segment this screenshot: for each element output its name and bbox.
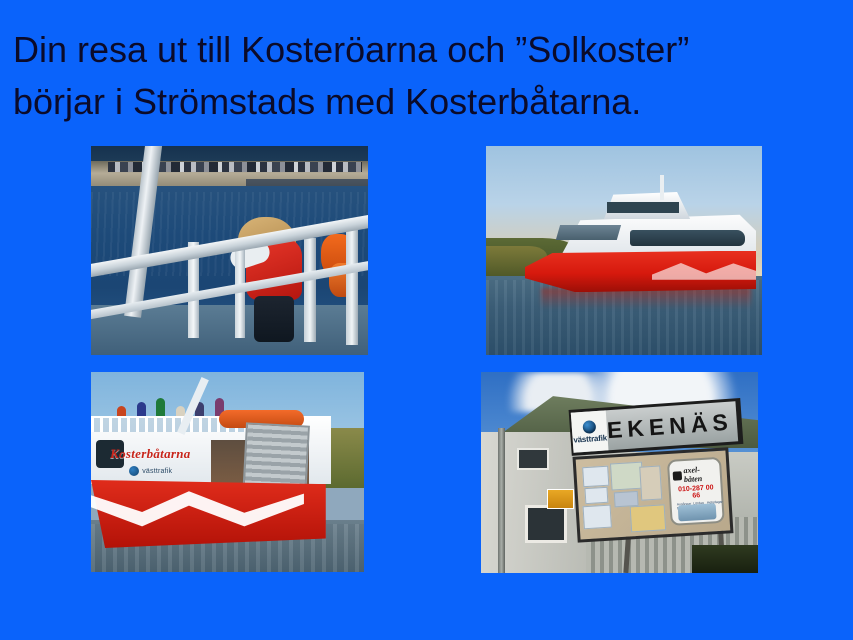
photo1-girl-trousers (254, 296, 294, 342)
photo3-vasttrafik-logo: västtrafik (129, 466, 172, 476)
photo4-sign-logo-label: västtrafik (573, 433, 607, 444)
photo-catamaran-ferry (486, 146, 762, 355)
photo4-drain-pipe (498, 428, 505, 573)
photo4-notice-paper (585, 487, 609, 505)
photo1-rail-post-3 (304, 238, 316, 343)
photo4-notice-paper (639, 466, 662, 501)
photo1-rail-post-4 (346, 230, 358, 345)
photo4-poster-name: axel-båten (683, 465, 717, 485)
photo4-upper-window (517, 448, 549, 470)
photo4-notice-paper (582, 466, 609, 487)
photo4-foreground-bush (692, 545, 758, 573)
photo3-operator-label: västtrafik (142, 468, 172, 475)
photo4-notice-paper (630, 505, 666, 533)
photo4-sign-vasttrafik-logo: västtrafik (571, 410, 609, 453)
photo-girl-on-ferry-railing (91, 146, 368, 355)
photo4-poster-phone: 010-287 00 66 (674, 485, 719, 502)
slide-title: Din resa ut till Kosteröarna och ”Solkos… (13, 24, 833, 128)
photo4-notice-board: axel-båten 010-287 00 66 Avgångar Mån–Fr… (573, 448, 734, 544)
photo-ekenas-terminal: axel-båten 010-287 00 66 Avgångar Mån–Fr… (481, 372, 758, 573)
boat-mark-icon (673, 472, 682, 482)
photo2-mast (660, 175, 664, 200)
photo4-lower-window (525, 505, 567, 543)
title-line-1: Din resa ut till Kosteröarna och ”Solkos… (13, 24, 833, 76)
photo4-yellow-notice (547, 489, 574, 509)
photo2-cabin-windows (630, 230, 746, 247)
vasttrafik-globe-icon (583, 419, 597, 433)
photo4-poster-map (678, 503, 717, 521)
presentation-slide: Din resa ut till Kosteröarna och ”Solkos… (0, 0, 853, 640)
photo4-sign-place-name: EKENÄS (607, 408, 738, 444)
photo2-wheelhouse-windows (607, 202, 679, 212)
photo4-notice-paper (583, 505, 612, 530)
vasttrafik-globe-icon (129, 466, 139, 476)
photo4-poster-logo: axel-båten (673, 465, 718, 486)
photo3-hull-name-text: Kosterbåtarna (110, 446, 190, 462)
title-line-2: börjar i Strömstads med Kosterbåtarna. (13, 76, 833, 128)
photo4-timetable-poster: axel-båten 010-287 00 66 Avgångar Mån–Fr… (667, 458, 725, 527)
photo-kosterbatarna-hull: Kosterbåtarna västtrafik (91, 372, 364, 572)
photo2-bow-windows (556, 225, 621, 240)
